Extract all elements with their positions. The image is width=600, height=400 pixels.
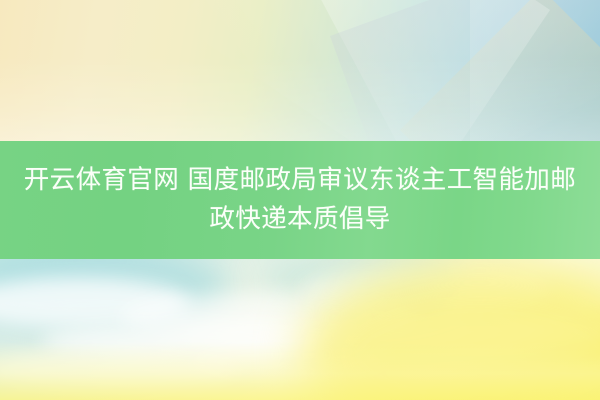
top-fade-overlay (0, 0, 600, 142)
bottom-sky-background (0, 259, 600, 400)
top-gradient-background (0, 0, 600, 142)
sky-patch-icon (0, 259, 230, 333)
title-band: 开云体育官网 国度邮政局审议东谈主工智能加邮政快递本质倡导 (0, 141, 600, 260)
banner-title: 开云体育官网 国度邮政局审议东谈主工智能加邮政快递本质倡导 (0, 141, 600, 260)
article-banner: 开云体育官网 国度邮政局审议东谈主工智能加邮政快递本质倡导 (0, 0, 600, 400)
bottom-brightening-overlay (0, 342, 600, 400)
banner-title-line-1: 开云体育官网 国度邮政局审议东谈主工智能加 (24, 165, 551, 195)
